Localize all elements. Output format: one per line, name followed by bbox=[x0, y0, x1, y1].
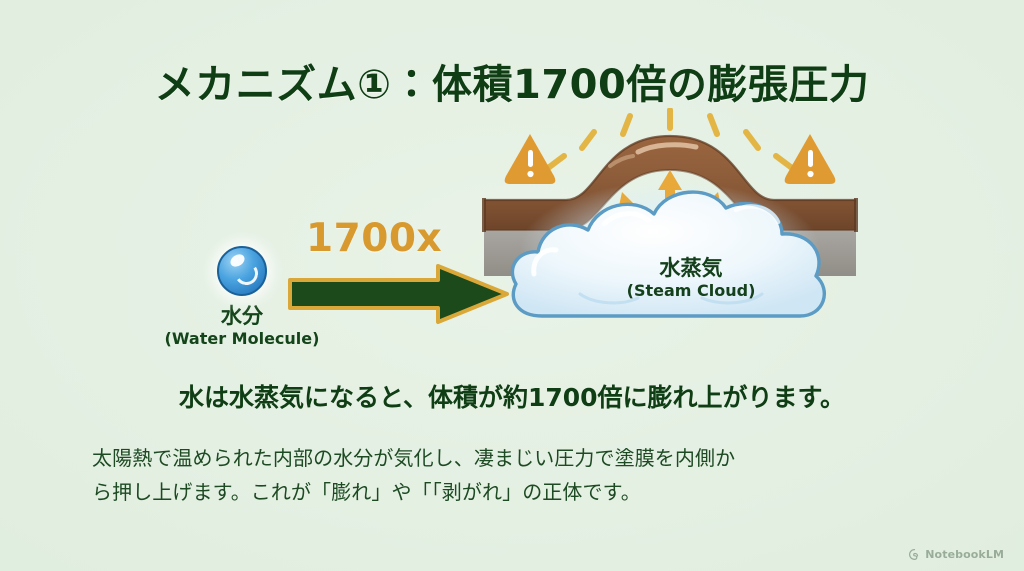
slide-root: メカニズム①：体積1700倍の膨張圧力 水分 (Water Molecule) … bbox=[0, 0, 1024, 571]
warning-triangle-icon bbox=[785, 134, 836, 184]
watermark-label: NotebookLM bbox=[925, 548, 1004, 561]
body-paragraph: 太陽熱で温められた内部の水分が気化し、凄まじい圧力で塗膜を内側か ら押し上げます… bbox=[92, 442, 938, 509]
body-line-1: 太陽熱で温められた内部の水分が気化し、凄まじい圧力で塗膜を内側か bbox=[92, 442, 938, 476]
warning-triangle-icon bbox=[505, 134, 556, 184]
page-title: メカニズム①：体積1700倍の膨張圧力 bbox=[0, 52, 1024, 110]
molecule-label-en: (Water Molecule) bbox=[158, 329, 326, 348]
water-droplet-icon bbox=[217, 246, 267, 296]
headline-text: 水は水蒸気になると、体積が約1700倍に膨れ上がります。 bbox=[0, 378, 1024, 414]
notebooklm-spiral-icon bbox=[908, 548, 921, 561]
diagram-illustration: 水分 (Water Molecule) 1700x bbox=[0, 108, 1024, 370]
cross-section-panel bbox=[470, 108, 890, 370]
body-line-2: ら押し上げます。これが「膨れ」や「「剥がれ」の正体です。 bbox=[92, 476, 938, 510]
notebooklm-watermark: NotebookLM bbox=[908, 548, 1004, 561]
expansion-ratio-label: 1700x bbox=[306, 216, 442, 261]
